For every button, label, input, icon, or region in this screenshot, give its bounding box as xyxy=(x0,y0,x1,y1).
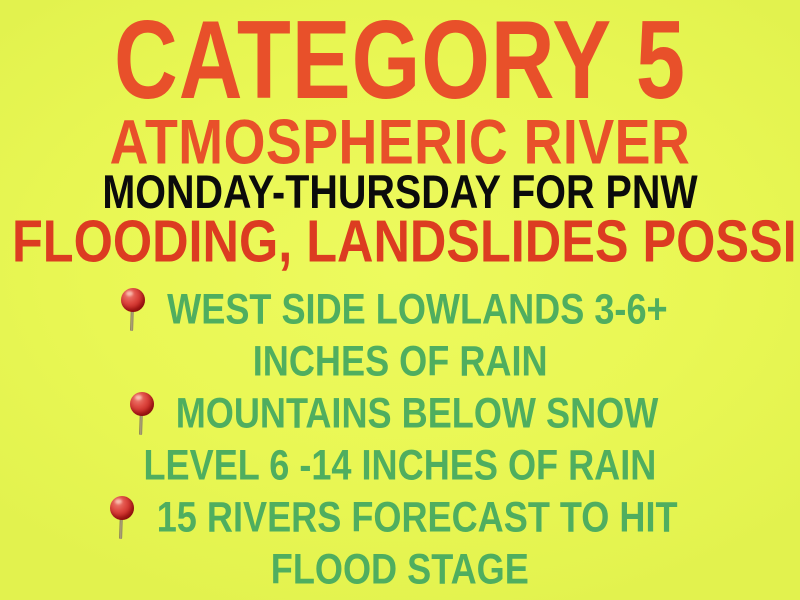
weather-alert-poster: CATEGORY 5 ATMOSPHERIC RIVER MONDAY-THUR… xyxy=(0,0,800,600)
bullet-list: WEST SIDE LOWLANDS 3-6+ INCHES OF RAIN M… xyxy=(0,284,800,596)
headline-subject: ATMOSPHERIC RIVER xyxy=(16,114,784,169)
list-item: WEST SIDE LOWLANDS 3-6+ xyxy=(0,284,800,336)
headline-category: CATEGORY 5 xyxy=(32,12,768,110)
list-item-text: FLOOD STAGE xyxy=(271,549,529,592)
list-item-text: LEVEL 6 -14 INCHES OF RAIN xyxy=(144,445,657,488)
list-item-text: MOUNTAINS BELOW SNOW xyxy=(176,393,659,436)
list-item-text: INCHES OF RAIN xyxy=(253,341,548,384)
headline-timing: MONDAY-THURSDAY FOR PNW xyxy=(24,172,776,213)
list-item-continuation: FLOOD STAGE xyxy=(0,544,800,596)
list-item-text: WEST SIDE LOWLANDS 3-6+ xyxy=(167,289,667,332)
list-item-continuation: INCHES OF RAIN xyxy=(0,336,800,388)
round-pushpin-icon xyxy=(109,496,135,540)
round-pushpin-icon xyxy=(129,392,155,436)
headline-hazard: FLOODING, LANDSLIDES POSSIBLE xyxy=(12,217,788,269)
list-item-continuation: LEVEL 6 -14 INCHES OF RAIN xyxy=(0,440,800,492)
list-item-text: 15 RIVERS FORECAST TO HIT xyxy=(157,497,678,540)
round-pushpin-icon xyxy=(120,288,146,332)
list-item: MOUNTAINS BELOW SNOW xyxy=(0,388,800,440)
list-item: 15 RIVERS FORECAST TO HIT xyxy=(0,492,800,544)
